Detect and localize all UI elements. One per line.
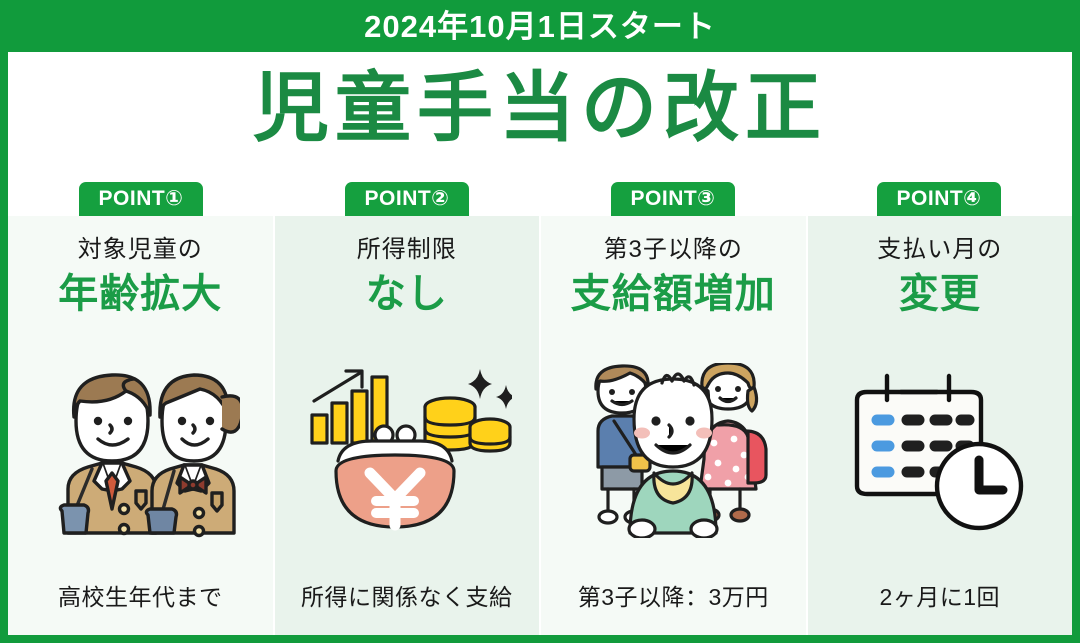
point-badge-row: POINT① POINT② POINT③ POINT④	[8, 172, 1072, 216]
point-illustration-4	[808, 314, 1073, 586]
point-illustration-1	[8, 314, 273, 586]
point-headline-1: 年齢拡大	[58, 274, 222, 314]
page-title: 児童手当の改正	[253, 71, 827, 147]
point-illustration-2	[275, 314, 540, 586]
point-headline-2: なし	[366, 274, 448, 314]
point-subtitle-4: 支払い月の	[877, 238, 1002, 262]
point-column-4: 支払い月の 変更	[806, 216, 1073, 635]
point-badge-3[interactable]: POINT③	[611, 182, 736, 216]
point-column-2: 所得制限 なし	[273, 216, 540, 635]
point-badge-2[interactable]: POINT②	[345, 182, 470, 216]
point-headline-3: 支給額増加	[571, 274, 776, 314]
badge-cell: POINT②	[274, 172, 540, 216]
badge-cell: POINT①	[8, 172, 274, 216]
points-columns: 対象児童の 年齢拡大	[8, 216, 1072, 635]
badge-cell: POINT③	[540, 172, 806, 216]
point-badge-1[interactable]: POINT①	[79, 182, 204, 216]
badge-cell: POINT④	[806, 172, 1072, 216]
point-footer-4: 2ヶ月に1回	[879, 586, 1000, 609]
content-frame: 児童手当の改正 POINT① POINT② POINT③ POINT④ 対象児童…	[8, 52, 1072, 635]
calendar-clock-icon	[845, 368, 1035, 533]
three-children-icon	[568, 363, 778, 538]
point-badge-4[interactable]: POINT④	[877, 182, 1002, 216]
point-column-1: 対象児童の 年齢拡大	[8, 216, 273, 635]
point-subtitle-1: 対象児童の	[78, 238, 203, 262]
point-footer-3: 第3子以降：3万円	[578, 586, 769, 609]
infographic-poster: 2024年10月1日スタート 児童手当の改正 POINT① POINT② POI…	[0, 0, 1080, 643]
point-footer-2: 所得に関係なく支給	[301, 586, 513, 609]
banner-text: 2024年10月1日スタート	[364, 11, 716, 42]
point-subtitle-2: 所得制限	[357, 238, 457, 262]
two-students-icon	[40, 363, 240, 538]
top-banner: 2024年10月1日スタート	[0, 0, 1080, 52]
point-illustration-3	[541, 314, 806, 586]
point-footer-1: 高校生年代まで	[58, 586, 223, 609]
point-column-3: 第3子以降の 支給額増加	[539, 216, 806, 635]
title-zone: 児童手当の改正	[8, 52, 1072, 166]
point-headline-4: 変更	[899, 274, 981, 314]
point-subtitle-3: 第3子以降の	[604, 238, 743, 262]
purse-coins-chart-icon	[302, 363, 512, 538]
